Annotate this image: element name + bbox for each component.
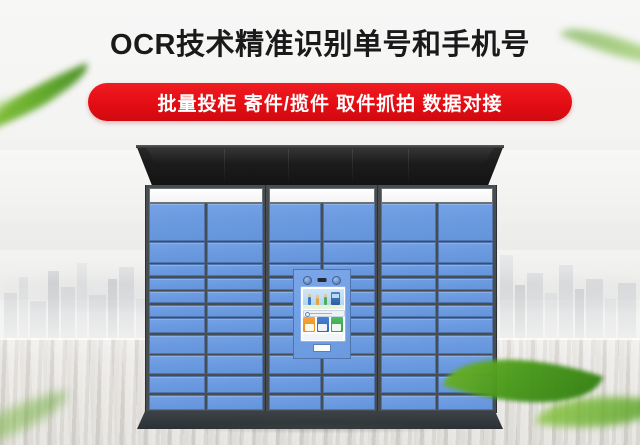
locker-door[interactable]	[207, 376, 263, 393]
locker-door[interactable]	[149, 318, 205, 333]
locker-door[interactable]	[269, 242, 321, 263]
ir-sensor-icon	[318, 278, 327, 282]
bay-header-strip-center	[269, 188, 375, 203]
locker-door[interactable]	[207, 242, 263, 263]
locker-door[interactable]	[149, 376, 205, 393]
locker-door[interactable]	[438, 278, 493, 290]
locker-door[interactable]	[149, 242, 205, 263]
locker-door[interactable]	[207, 291, 263, 303]
locker-door[interactable]	[207, 318, 263, 333]
locker-door[interactable]	[381, 203, 436, 241]
locker-door[interactable]	[381, 335, 436, 354]
deposit-button[interactable]	[303, 317, 315, 332]
locker-door[interactable]	[149, 291, 205, 303]
touchscreen-kiosk[interactable]	[293, 269, 351, 359]
locker-door[interactable]	[323, 203, 375, 241]
kiosk-screen[interactable]	[300, 286, 346, 342]
locker-bay-left	[145, 185, 267, 413]
locker-door[interactable]	[149, 264, 205, 276]
locker-door[interactable]	[438, 335, 493, 354]
locker-door[interactable]	[149, 203, 205, 241]
door-column	[207, 203, 263, 410]
feature-banner: 批量投柜 寄件/揽件 取件抓拍 数据对接	[88, 83, 572, 121]
locker-door[interactable]	[438, 203, 493, 241]
bay-header-strip-right	[381, 188, 493, 203]
camera-dot-left-icon	[303, 276, 312, 285]
locker-door[interactable]	[269, 395, 321, 410]
locker-door[interactable]	[149, 278, 205, 290]
door-column	[381, 203, 436, 410]
kiosk-screen-footer	[303, 334, 343, 340]
locker-door[interactable]	[207, 395, 263, 410]
locker-body	[145, 185, 495, 413]
locker-door[interactable]	[438, 318, 493, 333]
more-button[interactable]	[331, 317, 343, 332]
locker-door[interactable]	[149, 335, 205, 354]
locker-door[interactable]	[269, 376, 321, 393]
locker-door[interactable]	[381, 355, 436, 374]
locker-door[interactable]	[207, 278, 263, 290]
locker-bay-center	[265, 185, 379, 413]
cabinet-shadow	[118, 420, 522, 436]
locker-door[interactable]	[149, 305, 205, 317]
locker-door[interactable]	[381, 395, 436, 410]
locker-door[interactable]	[269, 203, 321, 241]
locker-door[interactable]	[207, 264, 263, 276]
locker-door[interactable]	[323, 376, 375, 393]
locker-door[interactable]	[438, 242, 493, 263]
locker-door[interactable]	[207, 335, 263, 354]
locker-door[interactable]	[381, 376, 436, 393]
feature-banner-text: 批量投柜 寄件/揽件 取件抓拍 数据对接	[88, 83, 572, 121]
locker-door[interactable]	[438, 291, 493, 303]
page-title: OCR技术精准识别单号和手机号	[0, 26, 640, 64]
delivery-illustration	[303, 289, 344, 309]
door-column	[149, 203, 205, 410]
locker-door[interactable]	[149, 355, 205, 374]
locker-door[interactable]	[438, 305, 493, 317]
locker-door[interactable]	[207, 305, 263, 317]
locker-door[interactable]	[438, 264, 493, 276]
card-slot-icon[interactable]	[313, 344, 331, 352]
canopy-top-edge	[136, 145, 504, 148]
locker-door[interactable]	[323, 242, 375, 263]
locker-door[interactable]	[207, 355, 263, 374]
kiosk-search-input[interactable]	[303, 310, 345, 317]
kiosk-action-buttons	[303, 317, 343, 332]
pickup-button[interactable]	[317, 317, 329, 332]
locker-door[interactable]	[207, 203, 263, 241]
locker-door[interactable]	[149, 395, 205, 410]
locker-canopy	[136, 145, 504, 187]
locker-door[interactable]	[381, 305, 436, 317]
locker-door[interactable]	[438, 395, 493, 410]
promo-banner-image: OCR技术精准识别单号和手机号 批量投柜 寄件/揽件 取件抓拍 数据对接	[0, 0, 640, 445]
locker-door[interactable]	[381, 278, 436, 290]
bay-header-strip-left	[149, 188, 263, 203]
locker-door[interactable]	[381, 318, 436, 333]
locker-door[interactable]	[381, 242, 436, 263]
locker-door[interactable]	[381, 264, 436, 276]
delivery-van-icon	[331, 292, 340, 305]
camera-dot-right-icon	[332, 276, 341, 285]
locker-door[interactable]	[381, 291, 436, 303]
locker-door[interactable]	[323, 395, 375, 410]
